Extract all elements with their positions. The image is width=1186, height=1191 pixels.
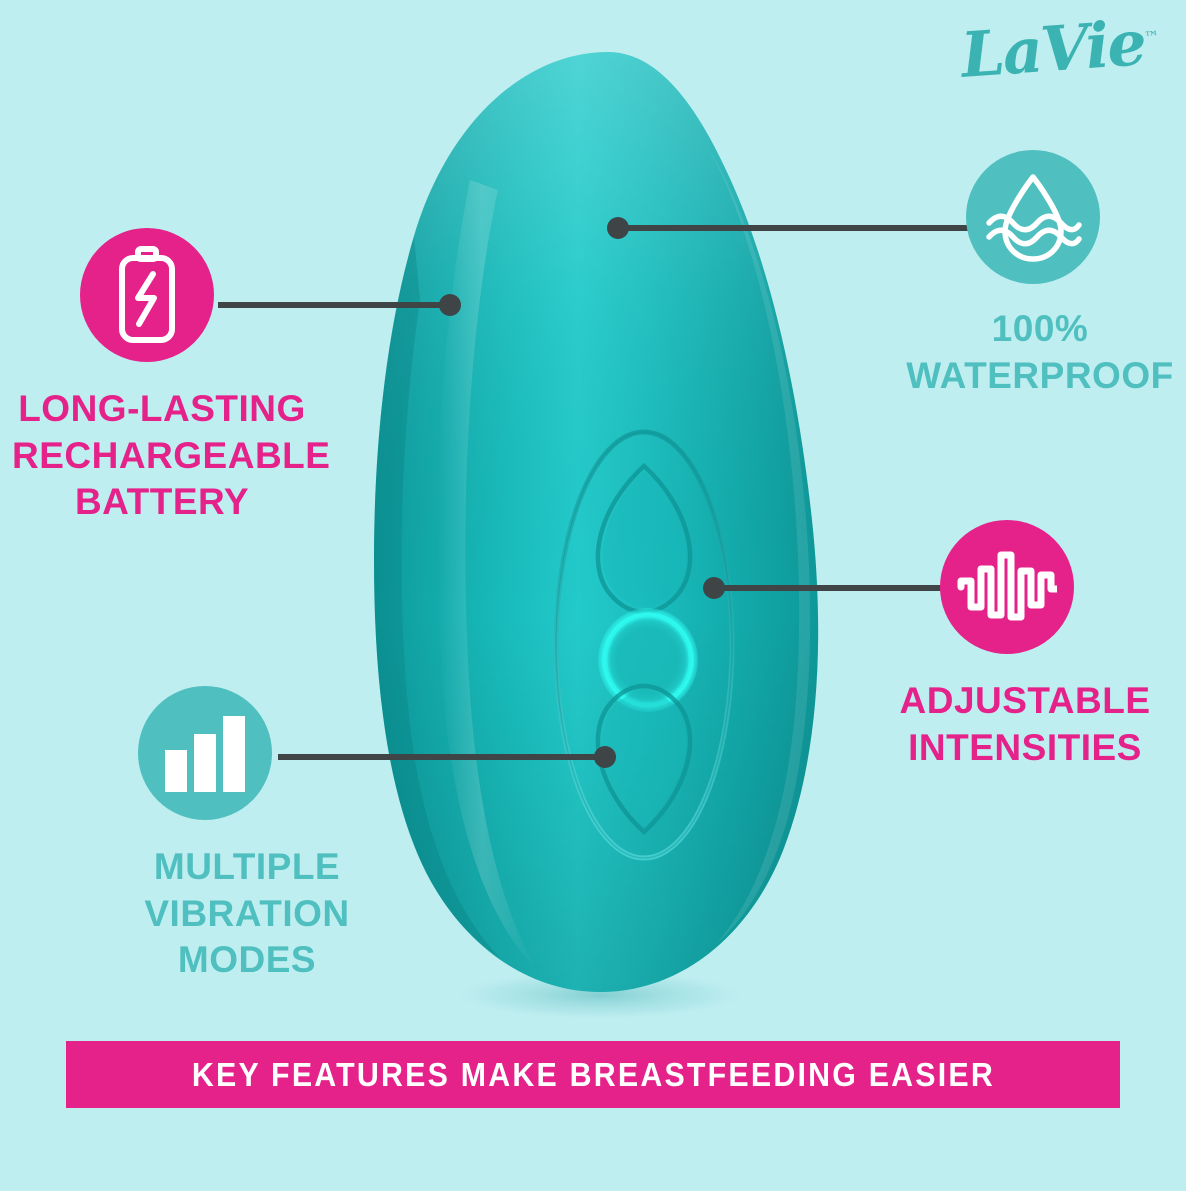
brand-logo-text: LaVie — [959, 6, 1147, 92]
feature-waterproof-label: 100% WATERPROOF — [900, 306, 1180, 399]
feature-waterproof: 100% WATERPROOF — [900, 150, 1180, 399]
water-drop-waves-icon — [983, 169, 1083, 265]
feature-intensity-badge — [940, 520, 1074, 654]
feature-modes-label: MULTIPLE VIBRATION MODES — [112, 844, 382, 984]
feature-intensity-label: ADJUSTABLE INTENSITIES — [880, 678, 1170, 771]
feature-intensity: ADJUSTABLE INTENSITIES — [880, 520, 1170, 771]
feature-battery-badge — [80, 228, 214, 362]
feature-waterproof-badge — [966, 150, 1100, 284]
leader-dot-battery — [439, 294, 461, 316]
feature-battery: LONG-LASTING RECHARGEABLE BATTERY — [12, 228, 312, 526]
leader-dot-modes — [594, 746, 616, 768]
bar-chart-icon — [161, 714, 249, 792]
feature-modes-badge — [138, 686, 272, 820]
waveform-icon — [957, 541, 1057, 633]
key-features-banner-text: KEY FEATURES MAKE BREASTFEEDING EASIER — [191, 1056, 994, 1094]
key-features-banner: KEY FEATURES MAKE BREASTFEEDING EASIER — [66, 1041, 1120, 1108]
feature-modes: MULTIPLE VIBRATION MODES — [112, 686, 382, 984]
battery-icon — [108, 246, 186, 344]
leader-dot-waterproof — [607, 217, 629, 239]
feature-battery-label: LONG-LASTING RECHARGEABLE BATTERY — [12, 386, 312, 526]
brand-logo: LaVie™ — [959, 11, 1162, 87]
leader-dot-intensity — [703, 577, 725, 599]
infographic-canvas: LaVie™ LONG-LASTING RECHARGEABLE BATTERY… — [0, 0, 1186, 1186]
trademark-symbol: ™ — [1144, 27, 1160, 46]
